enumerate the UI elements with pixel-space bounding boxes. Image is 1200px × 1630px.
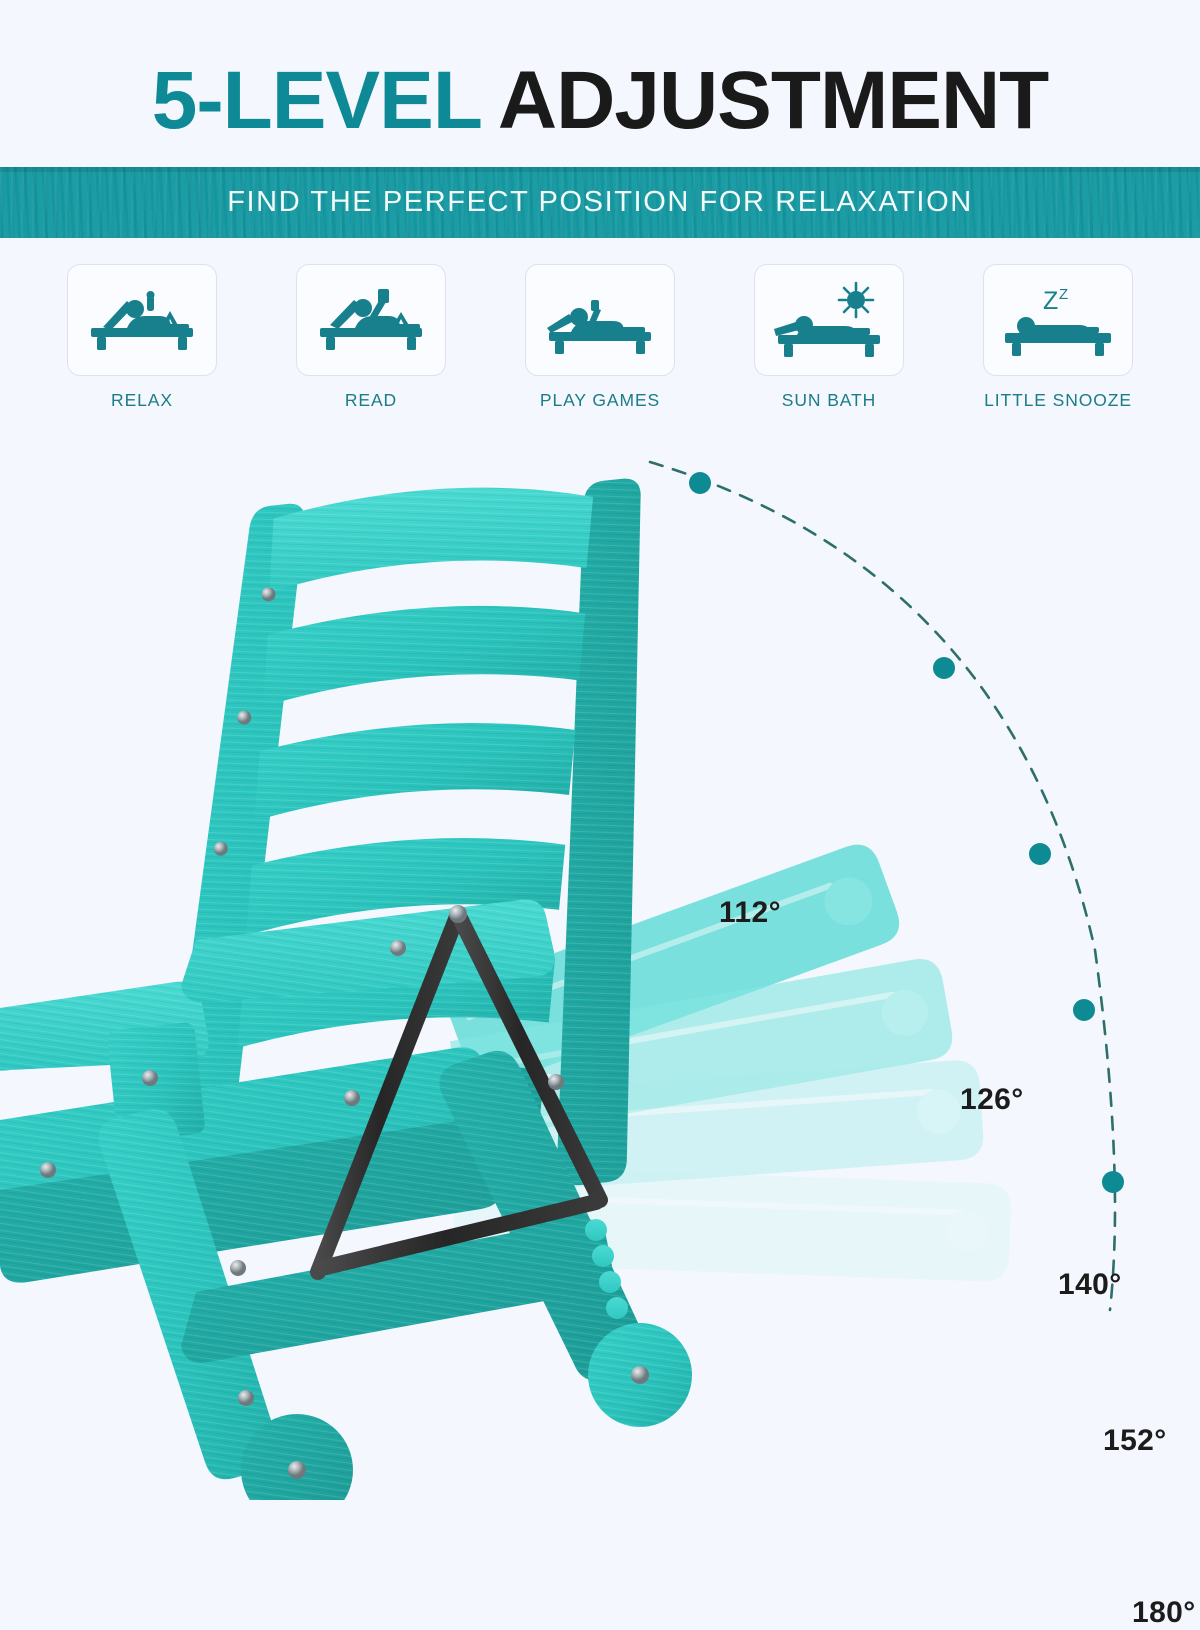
svg-text:Z: Z: [1059, 286, 1068, 303]
svg-text:Z: Z: [1043, 287, 1058, 315]
person-reading-lounger-icon: [312, 284, 430, 356]
chair-illustration: 112° 126° 140° 152° 180°: [0, 430, 1200, 1500]
feature-card-row: RELAX: [62, 264, 1138, 414]
feature-card-read[interactable]: READ: [291, 264, 451, 414]
subtitle-banner: FIND THE PERFECT POSITION FOR RELAXATION: [0, 167, 1200, 238]
feature-icon-box: [67, 264, 217, 376]
feature-label: READ: [345, 390, 397, 411]
feature-card-play-games[interactable]: PLAY GAMES: [520, 264, 680, 414]
person-sunbath-lounger-icon: [770, 281, 888, 359]
angle-label-180: 180°: [1132, 1596, 1196, 1630]
subtitle-text: FIND THE PERFECT POSITION FOR RELAXATION: [227, 186, 973, 219]
feature-icon-box: [754, 264, 904, 376]
angle-dot-180: [1102, 1171, 1124, 1193]
infographic-root: 5-LEVEL ADJUSTMENT FIND THE PERFECT POSI…: [0, 0, 1200, 1500]
feature-icon-box: Z Z: [983, 264, 1133, 376]
title-main: ADJUSTMENT: [498, 60, 1048, 142]
person-sleeping-lounger-icon: Z Z: [999, 281, 1117, 359]
screw: [142, 1070, 158, 1086]
feature-card-relax[interactable]: RELAX: [62, 264, 222, 414]
page-title: 5-LEVEL ADJUSTMENT: [0, 46, 1200, 156]
person-gaming-lounger-icon: [541, 284, 659, 356]
title-accent: 5-LEVEL: [152, 60, 482, 142]
screw: [390, 940, 406, 956]
feature-label: LITTLE SNOOZE: [984, 390, 1132, 411]
person-reclining-lounger-icon: [83, 284, 201, 356]
angle-dot-140: [1029, 843, 1051, 865]
screw: [631, 1366, 649, 1384]
screw: [288, 1461, 306, 1479]
feature-icon-box: [525, 264, 675, 376]
feature-card-sun-bath[interactable]: SUN BATH: [749, 264, 909, 414]
chair-svg: [0, 430, 1200, 1500]
feature-icon-box: [296, 264, 446, 376]
angle-dot-112: [689, 472, 711, 494]
angle-dot-126: [933, 657, 955, 679]
angle-dot-152: [1073, 999, 1095, 1021]
feature-label: PLAY GAMES: [540, 390, 660, 411]
feature-label: RELAX: [111, 390, 173, 411]
screw: [449, 905, 467, 923]
feature-label: SUN BATH: [782, 390, 876, 411]
feature-card-little-snooze[interactable]: Z Z LITTLE SNOOZE: [978, 264, 1138, 414]
